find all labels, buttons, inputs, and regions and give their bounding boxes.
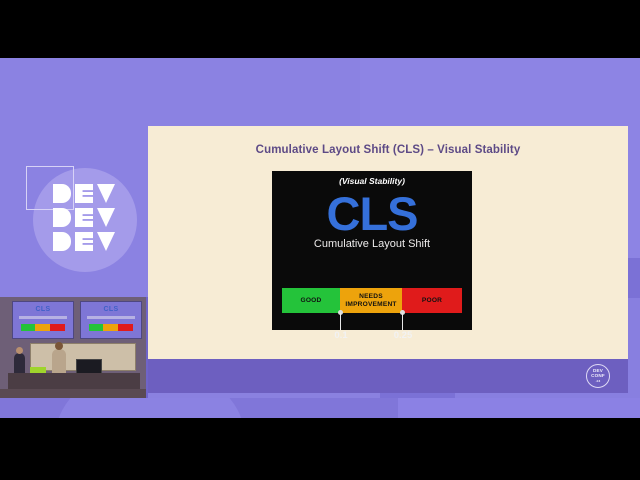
figure-subtitle: (Visual Stability)	[272, 176, 472, 186]
camera-podium-desk	[8, 373, 140, 390]
threshold-label-needs-line1: NEEDS	[359, 293, 383, 300]
camera-projector-screen-left: CLS	[12, 301, 74, 339]
badge-line-3: .cz	[596, 379, 601, 384]
figure-full-name: Cumulative Layout Shift	[272, 238, 472, 250]
letter-v-glyph	[97, 232, 115, 251]
branding-band-right	[398, 398, 640, 418]
letter-e-glyph	[75, 184, 93, 203]
letter-d-glyph	[53, 208, 71, 227]
letter-d-glyph	[53, 232, 71, 251]
video-player-stage: CLS CLS Cumulative Layou	[0, 0, 640, 480]
dev-glyph-row	[53, 184, 117, 203]
cls-threshold-bar: GOOD NEEDSIMPROVEMENT POOR	[282, 288, 462, 313]
letter-d-glyph	[53, 184, 71, 203]
dev-glyph-row	[53, 232, 117, 251]
devconf-logo-graphic	[8, 158, 148, 283]
letter-e-glyph	[75, 208, 93, 227]
video-frame: CLS CLS Cumulative Layou	[0, 58, 640, 418]
threshold-value-first: 0.1	[321, 313, 361, 341]
devconf-badge-icon: DEV CONF .cz	[586, 364, 610, 388]
camera-screen-title: CLS	[81, 306, 141, 313]
threshold-value-second: 0.25	[383, 313, 423, 341]
dev-glyph-grid	[53, 184, 117, 254]
threshold-label-good: GOOD	[301, 297, 322, 305]
speaker-camera-inset: CLS CLS	[0, 297, 148, 398]
threshold-label-needs-line2: IMPROVEMENT	[345, 301, 396, 308]
camera-projector-screen-right: CLS	[80, 301, 142, 339]
letterbox-bar-top	[0, 0, 640, 58]
camera-screen-subtitle	[19, 316, 67, 319]
threshold-segment-good: GOOD	[282, 288, 340, 313]
letter-v-glyph	[97, 184, 115, 203]
camera-screen-bar	[89, 324, 133, 331]
threshold-segment-needs-improvement: NEEDSIMPROVEMENT	[340, 288, 402, 313]
threshold-segment-poor: POOR	[402, 288, 462, 313]
letter-v-glyph	[97, 208, 115, 227]
cls-figure: (Visual Stability) CLS Cumulative Layout…	[272, 171, 472, 330]
letter-e-glyph	[75, 232, 93, 251]
letterbox-bar-bottom	[0, 418, 640, 480]
threshold-label-poor: POOR	[422, 297, 442, 305]
camera-floor	[0, 389, 146, 398]
slide-footer-strip: DEV CONF .cz	[148, 359, 628, 393]
camera-screen-bar	[21, 324, 65, 331]
branding-band-left: DEVNF.cz open source community conferenc…	[0, 398, 398, 418]
camera-screen-title: CLS	[13, 306, 73, 313]
branding-band: DEVNF.cz open source community conferenc…	[0, 398, 640, 418]
figure-acronym: CLS	[272, 188, 472, 240]
slide-title: Cumulative Layout Shift (CLS) – Visual S…	[148, 144, 628, 156]
camera-screen-subtitle	[87, 316, 135, 319]
dev-glyph-row	[53, 208, 117, 227]
